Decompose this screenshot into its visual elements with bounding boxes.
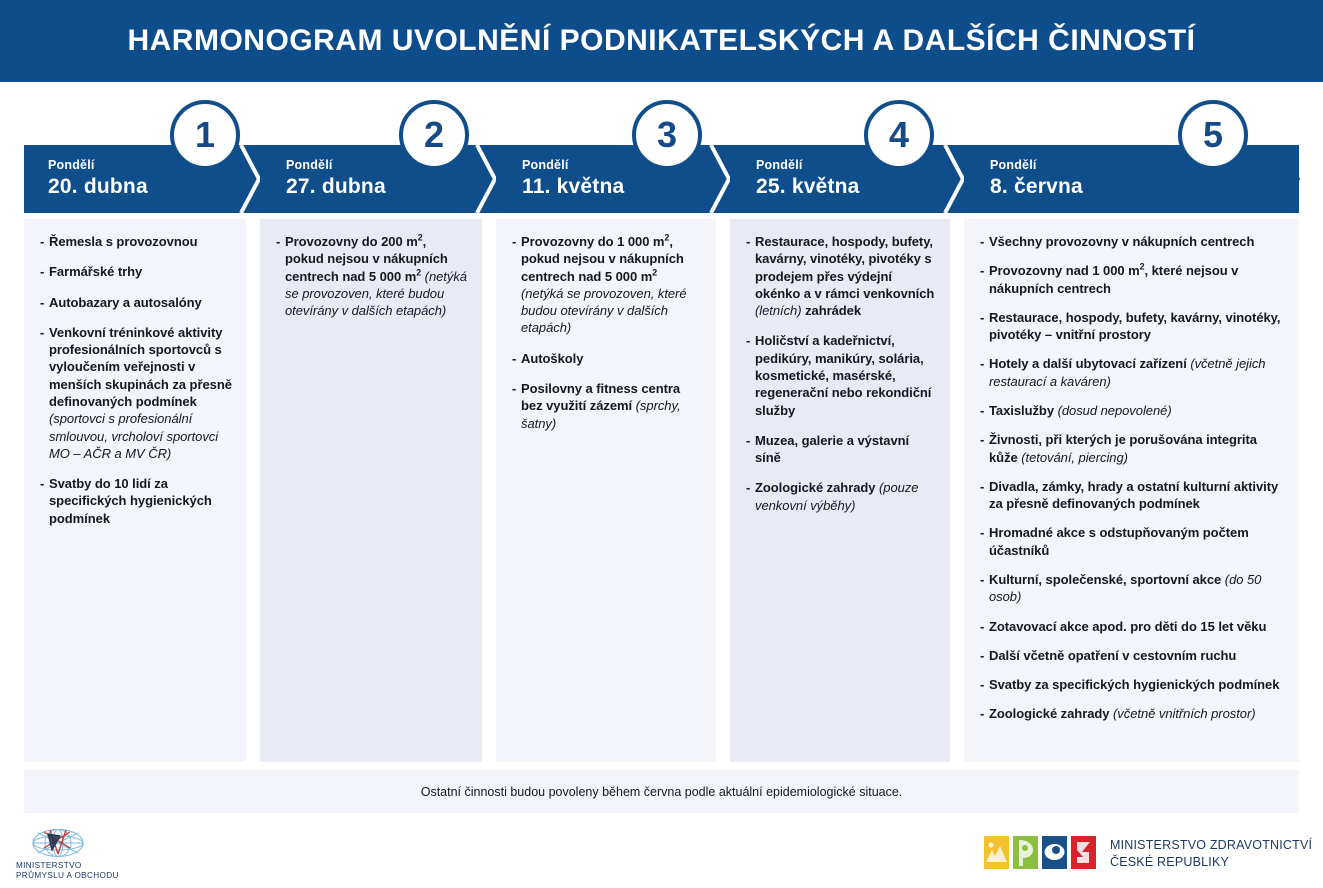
list-item: -Zoologické zahrady (včetně vnitřních pr… xyxy=(980,705,1285,722)
chevron-left-notch-icon xyxy=(259,145,285,213)
list-item: -Zoologické zahrady (pouze venkovní výbě… xyxy=(746,479,936,514)
phase-panel-4: -Restaurace, hospody, bufety, kavárny, v… xyxy=(730,219,950,762)
list-item-text: Hotely a další ubytovací zařízení (včetn… xyxy=(989,355,1285,390)
timeline-segment-4[interactable]: Pondělí25. května xyxy=(730,145,964,213)
phase-date-label: 8. června xyxy=(990,175,1083,199)
bullet-dash-icon: - xyxy=(980,309,989,344)
chevron-right-icon xyxy=(705,145,731,213)
phase-date-label: 20. dubna xyxy=(48,175,148,199)
bullet-dash-icon: - xyxy=(746,432,755,467)
bullet-dash-icon: - xyxy=(746,332,755,418)
list-item-text: Farmářské trhy xyxy=(49,263,232,280)
list-item-text: Posilovny a fitness centra bez využití z… xyxy=(521,380,702,432)
list-item: -Holičství a kadeřnictví, pedikúry, mani… xyxy=(746,332,936,418)
phase-panel-1: -Řemesla s provozovnou-Farmářské trhy-Au… xyxy=(24,219,246,762)
bullet-dash-icon: - xyxy=(40,233,49,250)
bullet-dash-icon: - xyxy=(980,233,989,250)
mz-logo-text: MINISTERSTVO ZDRAVOTNICTVÍ ČESKÉ REPUBLI… xyxy=(1110,837,1312,871)
mz-emblem-icon xyxy=(984,836,1096,869)
chevron-left-notch-icon xyxy=(963,145,989,213)
phase-number-label: 4 xyxy=(889,114,909,156)
bullet-dash-icon: - xyxy=(40,294,49,311)
bullet-dash-icon: - xyxy=(980,262,989,297)
list-item: -Provozovny do 200 m2, pokud nejsou v ná… xyxy=(276,233,468,319)
phase-weekday-label: Pondělí xyxy=(286,158,333,172)
bullet-dash-icon: - xyxy=(512,350,521,367)
list-item: -Další včetně opatření v cestovním ruchu xyxy=(980,647,1285,664)
bullet-dash-icon: - xyxy=(746,479,755,514)
list-item: -Restaurace, hospody, bufety, kavárny, v… xyxy=(980,309,1285,344)
list-item: -Venkovní tréninkové aktivity profesioná… xyxy=(40,324,232,462)
list-item-text: Kulturní, společenské, sportovní akce (d… xyxy=(989,571,1285,606)
footer-note-text: Ostatní činnosti budou povoleny během če… xyxy=(421,785,903,799)
list-item: -Provozovny nad 1 000 m2, které nejsou v… xyxy=(980,262,1285,297)
list-item: -Hromadné akce s odstupňovaným počtem úč… xyxy=(980,524,1285,559)
bullet-dash-icon: - xyxy=(980,618,989,635)
list-item: -Všechny provozovny v nákupních centrech xyxy=(980,233,1285,250)
list-item-text: Autobazary a autosalóny xyxy=(49,294,232,311)
list-item: -Autobazary a autosalóny xyxy=(40,294,232,311)
list-item-text: Restaurace, hospody, bufety, kavárny, vi… xyxy=(989,309,1285,344)
chevron-right-icon xyxy=(235,145,261,213)
list-item: -Svatby za specifických hygienických pod… xyxy=(980,676,1285,693)
bullet-dash-icon: - xyxy=(40,475,49,527)
page-title: HARMONOGRAM UVOLNĚNÍ PODNIKATELSKÝCH A D… xyxy=(127,24,1195,58)
list-item-text: Všechny provozovny v nákupních centrech xyxy=(989,233,1285,250)
logo-ministry-of-health: MINISTERSTVO ZDRAVOTNICTVÍ ČESKÉ REPUBLI… xyxy=(984,833,1314,879)
phase-date-label: 11. května xyxy=(522,175,624,199)
chevron-right-icon xyxy=(471,145,497,213)
list-item: -Provozovny do 1 000 m2, pokud nejsou v … xyxy=(512,233,702,337)
list-item: -Farmářské trhy xyxy=(40,263,232,280)
phase-date-label: 25. května xyxy=(756,175,860,199)
phase-date-label: 27. dubna xyxy=(286,175,386,199)
phase-weekday-label: Pondělí xyxy=(756,158,803,172)
bullet-dash-icon: - xyxy=(980,478,989,513)
list-item: -Řemesla s provozovnou xyxy=(40,233,232,250)
bullet-dash-icon: - xyxy=(980,431,989,466)
phase-panel-3: -Provozovny do 1 000 m2, pokud nejsou v … xyxy=(496,219,716,762)
list-item-text: Muzea, galerie a výstavní síně xyxy=(755,432,936,467)
mpo-logo-text: MINISTERSTVO PRŮMYSLU A OBCHODU xyxy=(16,861,119,882)
list-item-text: Řemesla s provozovnou xyxy=(49,233,232,250)
list-item-text: Provozovny do 1 000 m2, pokud nejsou v n… xyxy=(521,233,702,337)
infographic-root: HARMONOGRAM UVOLNĚNÍ PODNIKATELSKÝCH A D… xyxy=(0,0,1323,888)
bullet-dash-icon: - xyxy=(512,380,521,432)
list-item: -Zotavovací akce apod. pro děti do 15 le… xyxy=(980,618,1285,635)
chevron-right-icon xyxy=(1274,145,1300,213)
bullet-dash-icon: - xyxy=(746,233,755,319)
phase-weekday-label: Pondělí xyxy=(48,158,95,172)
list-item-text: Zoologické zahrady (včetně vnitřních pro… xyxy=(989,705,1285,722)
list-item: -Kulturní, společenské, sportovní akce (… xyxy=(980,571,1285,606)
logo-ministry-of-industry-and-trade: MINISTERSTVO PRŮMYSLU A OBCHODU xyxy=(16,828,166,882)
phase-number-label: 5 xyxy=(1203,114,1223,156)
list-item-text: Holičství a kadeřnictví, pedikúry, manik… xyxy=(755,332,936,418)
phase-number-label: 1 xyxy=(195,114,215,156)
list-item-text: Další včetně opatření v cestovním ruchu xyxy=(989,647,1285,664)
phase-number-circle-4[interactable]: 4 xyxy=(864,100,934,170)
list-item-text: Hromadné akce s odstupňovaným počtem úča… xyxy=(989,524,1285,559)
bullet-dash-icon: - xyxy=(276,233,285,319)
phase-panel-2: -Provozovny do 200 m2, pokud nejsou v ná… xyxy=(260,219,482,762)
list-item: -Hotely a další ubytovací zařízení (včet… xyxy=(980,355,1285,390)
list-item: -Taxislužby (dosud nepovolené) xyxy=(980,402,1285,419)
bullet-dash-icon: - xyxy=(980,676,989,693)
list-item-text: Provozovny do 200 m2, pokud nejsou v nák… xyxy=(285,233,468,319)
list-item-text: Zotavovací akce apod. pro děti do 15 let… xyxy=(989,618,1285,635)
bullet-dash-icon: - xyxy=(40,263,49,280)
phase-weekday-label: Pondělí xyxy=(522,158,569,172)
mpo-globe-icon xyxy=(30,828,86,858)
list-item-text: Provozovny nad 1 000 m2, které nejsou v … xyxy=(989,262,1285,297)
title-bar: HARMONOGRAM UVOLNĚNÍ PODNIKATELSKÝCH A D… xyxy=(0,0,1323,82)
list-item-text: Živnosti, při kterých je porušována inte… xyxy=(989,431,1285,466)
mz-logo-line1: MINISTERSTVO ZDRAVOTNICTVÍ xyxy=(1110,837,1312,854)
chevron-right-icon xyxy=(939,145,965,213)
list-item-text: Svatby za specifických hygienických podm… xyxy=(989,676,1285,693)
list-item: -Živnosti, při kterých je porušována int… xyxy=(980,431,1285,466)
list-item-text: Zoologické zahrady (pouze venkovní výběh… xyxy=(755,479,936,514)
list-item: -Posilovny a fitness centra bez využití … xyxy=(512,380,702,432)
mpo-logo-line1: MINISTERSTVO xyxy=(16,861,119,871)
list-item: -Muzea, galerie a výstavní síně xyxy=(746,432,936,467)
list-item-text: Autoškoly xyxy=(521,350,702,367)
list-item-text: Venkovní tréninkové aktivity profesionál… xyxy=(49,324,232,462)
phase-number-circle-2[interactable]: 2 xyxy=(399,100,469,170)
list-item: -Svatby do 10 lidí za specifických hygie… xyxy=(40,475,232,527)
chevron-left-notch-icon xyxy=(729,145,755,213)
phase-number-circle-5[interactable]: 5 xyxy=(1178,100,1248,170)
bullet-dash-icon: - xyxy=(980,402,989,419)
list-item-text: Taxislužby (dosud nepovolené) xyxy=(989,402,1285,419)
bullet-dash-icon: - xyxy=(40,324,49,462)
bullet-dash-icon: - xyxy=(980,705,989,722)
phase-number-circle-1[interactable]: 1 xyxy=(170,100,240,170)
phase-panel-5: -Všechny provozovny v nákupních centrech… xyxy=(964,219,1299,762)
bullet-dash-icon: - xyxy=(980,647,989,664)
bullet-dash-icon: - xyxy=(512,233,521,337)
list-item-text: Svatby do 10 lidí za specifických hygien… xyxy=(49,475,232,527)
timeline-segment-5[interactable]: Pondělí8. června xyxy=(964,145,1299,213)
mz-logo-line2: ČESKÉ REPUBLIKY xyxy=(1110,854,1312,871)
list-item-text: Divadla, zámky, hrady a ostatní kulturní… xyxy=(989,478,1285,513)
list-item: -Autoškoly xyxy=(512,350,702,367)
list-item: -Restaurace, hospody, bufety, kavárny, v… xyxy=(746,233,936,319)
list-item-text: Restaurace, hospody, bufety, kavárny, vi… xyxy=(755,233,936,319)
phase-number-label: 3 xyxy=(657,114,677,156)
mpo-logo-line2: PRŮMYSLU A OBCHODU xyxy=(16,871,119,881)
bullet-dash-icon: - xyxy=(980,524,989,559)
footer-note-bar: Ostatní činnosti budou povoleny během če… xyxy=(24,770,1299,813)
bullet-dash-icon: - xyxy=(980,571,989,606)
list-item: -Divadla, zámky, hrady a ostatní kulturn… xyxy=(980,478,1285,513)
phase-weekday-label: Pondělí xyxy=(990,158,1037,172)
phase-number-circle-3[interactable]: 3 xyxy=(632,100,702,170)
phase-number-label: 2 xyxy=(424,114,444,156)
chevron-left-notch-icon xyxy=(495,145,521,213)
bullet-dash-icon: - xyxy=(980,355,989,390)
